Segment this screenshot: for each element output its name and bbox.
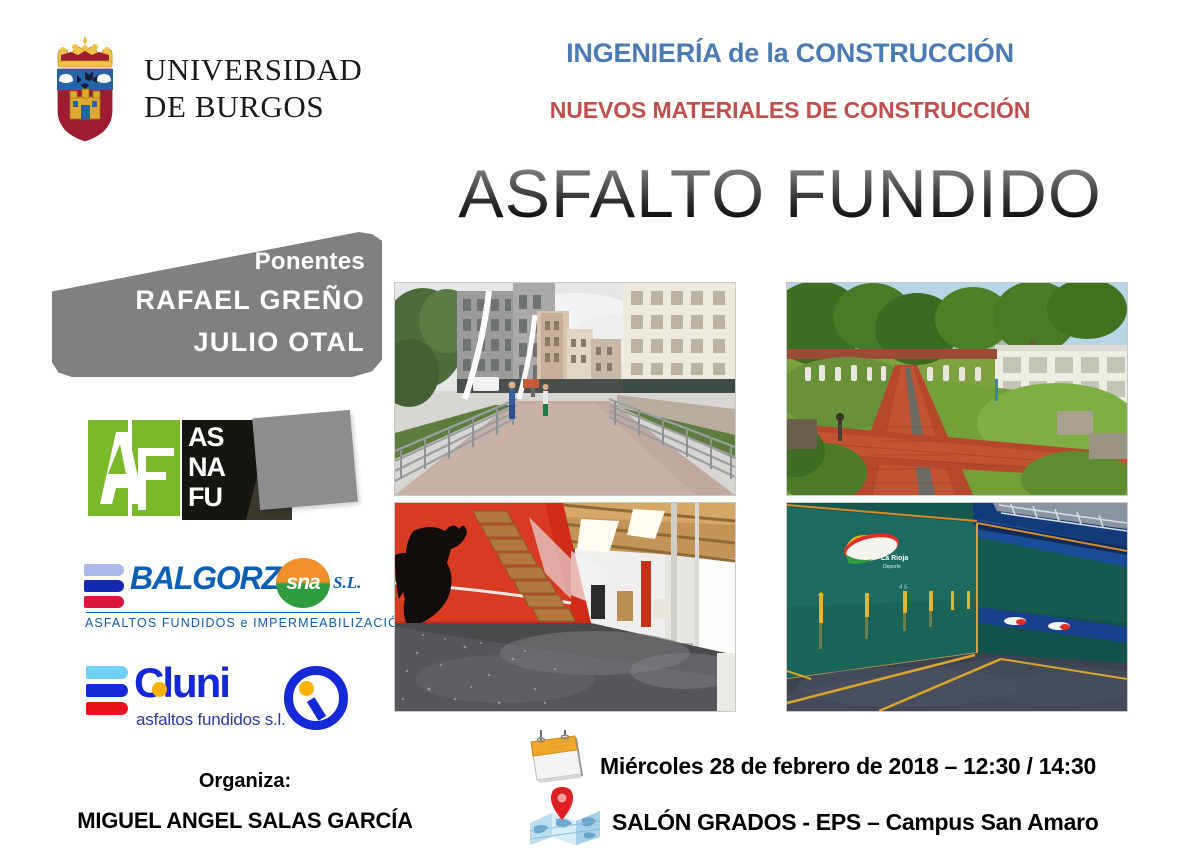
clunia-bars-icon	[86, 666, 128, 720]
organizer-label: Organiza:	[30, 770, 460, 793]
asnafu-text-as: AS	[188, 424, 224, 451]
clunia-wordmark: Cluni	[134, 660, 229, 705]
speaker-name-1: RAFAEL GREÑO	[135, 280, 365, 322]
asnafu-monogram-icon	[86, 418, 182, 518]
calendar-icon	[525, 730, 589, 786]
sponsor-logo-clunia: Cluni asfaltos fundidos s.l.	[86, 660, 336, 736]
speaker-name-2: JULIO OTAL	[135, 322, 365, 364]
clunia-q-icon	[284, 666, 348, 730]
sponsor-logo-balgorza: BALGORZA- sna S.L. ASFALTOS FUNDIDOS e I…	[84, 556, 362, 638]
university-name-line1: UNIVERSIDAD	[144, 52, 362, 89]
course-title: INGENIERÍA de la CONSTRUCCIÓN	[400, 38, 1180, 69]
asnafu-text-na: NA	[188, 454, 225, 481]
asnafu-gray-square-shape	[252, 410, 358, 510]
coat-of-arms-shield-icon	[44, 33, 126, 145]
balgorza-tagline: ASFALTOS FUNDIDOS e IMPERMEABILIZACIÓN	[85, 616, 361, 630]
speakers-text-group: Ponentes RAFAEL GREÑO JULIO OTAL	[135, 244, 365, 364]
asnafu-text-fu: FU	[188, 484, 222, 511]
map-pin-icon	[528, 787, 602, 845]
organizer-name: MIGUEL ANGEL SALAS GARCÍA	[20, 808, 470, 834]
balgorza-sna-badge-icon: sna	[276, 558, 330, 608]
photo-fronton: La Rioja Deporte 4 5	[786, 502, 1128, 712]
photo-garden-path	[786, 282, 1128, 496]
university-name-line2: DE BURGOS	[144, 89, 362, 126]
balgorza-bars-icon	[84, 564, 124, 612]
photo-interior-stairs	[394, 502, 736, 712]
event-location: SALÓN GRADOS - EPS – Campus San Amaro	[612, 809, 1098, 836]
svg-text:4 5: 4 5	[899, 585, 908, 591]
page-title: ASFALTO FUNDIDO	[380, 160, 1180, 228]
svg-text:Deporte: Deporte	[883, 564, 901, 570]
university-logo: UNIVERSIDAD DE BURGOS	[44, 26, 344, 151]
photo-bridge	[394, 282, 736, 496]
poster-canvas: UNIVERSIDAD DE BURGOS INGENIERÍA de la C…	[0, 0, 1200, 848]
sponsor-logo-asnafu: AS NA FU	[86, 414, 354, 520]
balgorza-sna-text: sna	[276, 558, 330, 608]
event-date: Miércoles 28 de febrero de 2018 – 12:30 …	[600, 753, 1096, 780]
balgorza-suffix: S.L.	[333, 573, 361, 593]
svg-text:La Rioja: La Rioja	[881, 555, 908, 562]
university-name: UNIVERSIDAD DE BURGOS	[144, 52, 362, 125]
clunia-dot-icon-2	[299, 681, 314, 696]
speakers-banner: Ponentes RAFAEL GREÑO JULIO OTAL	[52, 232, 382, 377]
course-subtitle: NUEVOS MATERIALES DE CONSTRUCCIÓN	[400, 97, 1180, 124]
clunia-dot-icon-1	[152, 682, 167, 697]
speakers-heading: Ponentes	[135, 244, 365, 280]
clunia-tagline: asfaltos fundidos s.l.	[136, 710, 286, 730]
balgorza-divider	[86, 612, 360, 613]
